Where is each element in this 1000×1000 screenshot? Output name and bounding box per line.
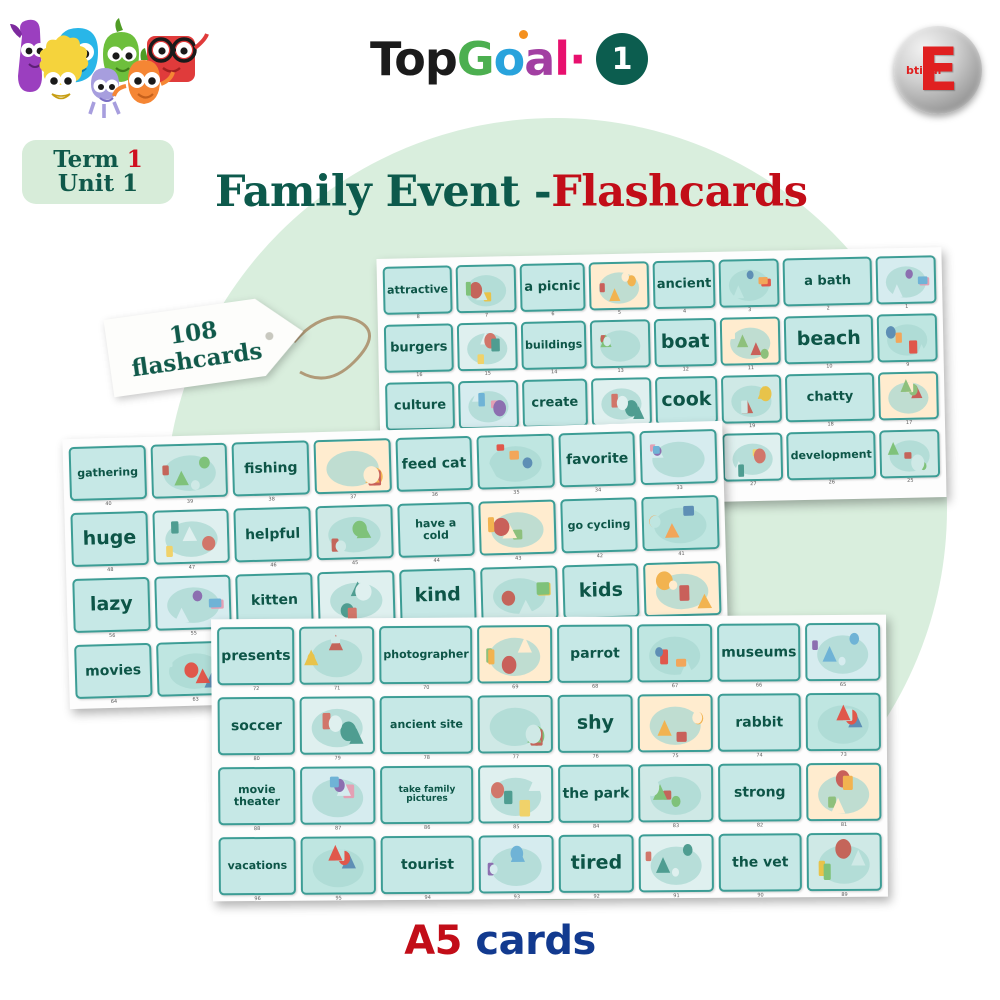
- flashcard-cell: a bath2: [783, 257, 873, 314]
- flashcard-cell: a picnic6: [519, 263, 585, 319]
- flashcard-cell: 79: [300, 696, 375, 763]
- flashcard-word-text: helpful: [236, 525, 309, 544]
- flashcard-word-text: the vet: [721, 854, 800, 871]
- card-size-unit: cards: [475, 918, 595, 964]
- flashcard-word-culture[interactable]: culture: [385, 381, 455, 430]
- flashcard-word-text: beach: [786, 328, 872, 352]
- flashcard-number: 66: [717, 681, 800, 690]
- flashcard-word-photographer[interactable]: photographer: [379, 626, 473, 685]
- flashcard-word-cook[interactable]: cook: [655, 376, 718, 425]
- page-title-topic: Family Event -: [215, 167, 551, 217]
- flashcard-cell: 13: [590, 319, 651, 375]
- flashcard-image-family-photo-shoot[interactable]: [300, 766, 375, 825]
- flashcard-word-text: ancient site: [382, 718, 471, 732]
- flashcard-image-hand-tapping-heart-star[interactable]: [477, 434, 555, 490]
- flashcard-number: 13: [591, 367, 651, 375]
- logo-letter-l: l: [554, 32, 569, 86]
- page-title: Family Event -Flashcards: [215, 167, 807, 217]
- flashcard-cell: 39: [150, 443, 228, 507]
- flashcard-cell: 17: [878, 371, 939, 427]
- flashcard-image-ancient-site-columns[interactable]: [300, 696, 375, 755]
- flashcard-word-the-vet[interactable]: the vet: [718, 833, 802, 892]
- flashcard-word-text: a picnic: [522, 279, 583, 296]
- flashcard-cell: 33: [640, 429, 718, 493]
- flashcard-image-crowd-of-people[interactable]: [642, 495, 720, 551]
- flashcard-image-picnic-park[interactable]: [456, 264, 517, 313]
- flashcard-cell: soccer80: [218, 697, 296, 764]
- flashcard-word-text: chatty: [787, 389, 872, 406]
- flashcard-word-text: huge: [73, 527, 146, 551]
- flashcard-number: 78: [380, 754, 473, 763]
- flashcard-number: 92: [559, 892, 634, 901]
- flashcard-cell: development26: [786, 431, 876, 488]
- flashcard-cell: 69: [478, 625, 553, 692]
- flashcard-word-vacations[interactable]: vacations: [219, 837, 297, 896]
- flashcard-cell: tourist94: [381, 836, 475, 903]
- flashcard-image-family-cycling[interactable]: [478, 500, 556, 556]
- flashcard-word-text: cook: [657, 389, 716, 412]
- flashcard-cell: 37: [313, 438, 391, 502]
- flashcard-number: 95: [301, 894, 376, 903]
- flashcard-number: 14: [522, 369, 587, 377]
- flashcard-word-take-family-pictures[interactable]: take family pictures: [380, 766, 474, 825]
- flashcard-cell: the vet90: [718, 833, 802, 900]
- flashcard-word-museums[interactable]: museums: [717, 623, 801, 682]
- flashcard-number: 15: [458, 370, 518, 378]
- flashcard-cell: tired92: [559, 834, 634, 901]
- flashcard-cell: 35: [477, 434, 555, 498]
- flashcard-image-craft-cube[interactable]: [458, 380, 519, 429]
- term-label: Term: [53, 146, 119, 173]
- flashcard-number: 70: [380, 684, 473, 693]
- flashcard-word-text: feed cat: [397, 455, 470, 474]
- flashcard-word-feed-cat[interactable]: feed cat: [395, 436, 473, 492]
- flashcard-word-text: take family pictures: [382, 784, 472, 805]
- flashcard-word-text: the park: [560, 785, 631, 802]
- flashcard-cell: attractive8: [383, 265, 453, 321]
- flashcard-number: 69: [478, 683, 553, 692]
- flashcard-cell: chatty18: [785, 373, 875, 430]
- flashcard-number: 1: [877, 303, 937, 311]
- flashcard-word-soccer[interactable]: soccer: [218, 697, 296, 756]
- flashcard-number: 89: [807, 891, 882, 900]
- flashcard-cell: helpful46: [234, 506, 312, 570]
- flashcard-image-white-rabbit[interactable]: [638, 694, 713, 753]
- flashcard-cell: 25: [879, 429, 940, 485]
- flashcard-cell: huge48: [70, 511, 148, 575]
- flashcard-image-ancient-ruins[interactable]: [588, 261, 649, 310]
- flashcard-number: 86: [381, 824, 474, 833]
- flashcard-cell: the park84: [558, 764, 633, 831]
- flashcard-image-airport-travellers[interactable]: [877, 313, 938, 362]
- flashcard-image-gift-boxes[interactable]: [806, 693, 881, 752]
- flashcard-number: 80: [218, 755, 295, 764]
- flashcard-word-text: have a cold: [399, 516, 472, 543]
- flashcard-word-gathering[interactable]: gathering: [69, 445, 147, 501]
- flashcard-word-tired[interactable]: tired: [559, 834, 634, 893]
- flashcard-image-photographer-with-camera[interactable]: [299, 626, 374, 685]
- flashcard-cell: 81: [806, 763, 881, 830]
- flashcard-word-attractive[interactable]: attractive: [383, 265, 453, 314]
- flashcard-word-text: a bath: [785, 273, 870, 290]
- flashcard-word-text: kind: [401, 584, 474, 608]
- card-size-label: A5 cards: [0, 918, 1000, 964]
- flashcard-cell: burgers16: [384, 323, 454, 379]
- flashcard-word-have-a-cold[interactable]: have a cold: [397, 502, 475, 558]
- flashcard-word-burgers[interactable]: burgers: [384, 323, 454, 372]
- flashcard-number: 93: [479, 893, 554, 902]
- flashcard-image-wooden-boat[interactable]: [590, 319, 651, 368]
- flashcard-cell: 7: [456, 264, 517, 320]
- flashcard-number: 9: [878, 361, 938, 369]
- flashcard-word-go-cycling[interactable]: go cycling: [560, 497, 638, 553]
- flashcard-cell: strong82: [718, 763, 802, 830]
- flashcard-word-parrot[interactable]: parrot: [557, 624, 632, 683]
- flashcard-word-text: favorite: [561, 450, 634, 469]
- flashcard-number: 85: [479, 823, 554, 832]
- flashcard-word-ancient-site[interactable]: ancient site: [380, 696, 474, 755]
- flashcard-cell: 67: [637, 624, 712, 691]
- flashcard-number: 16: [385, 371, 454, 379]
- flashcard-cell: presents72: [217, 627, 295, 694]
- flashcard-word-text: movie theater: [220, 783, 293, 809]
- flashcard-number: 6: [520, 311, 585, 319]
- flashcard-cell: 15: [457, 322, 518, 378]
- flashcard-word-text: buildings: [523, 338, 584, 353]
- flashcard-cell: 77: [478, 695, 553, 762]
- flashcard-number: 71: [300, 684, 375, 693]
- flashcard-number: 27: [723, 480, 783, 488]
- flashcard-word-text: lazy: [75, 593, 148, 617]
- flashcard-number: 8: [384, 313, 453, 321]
- flashcard-word-movies[interactable]: movies: [74, 643, 152, 699]
- flashcard-word-create[interactable]: create: [522, 379, 588, 428]
- flashcard-cell: 95: [301, 836, 376, 903]
- flashcard-image-museum-visitors[interactable]: [637, 624, 712, 683]
- flashcard-cell: 73: [806, 693, 881, 760]
- flashcard-word-helpful[interactable]: helpful: [234, 506, 312, 562]
- flashcard-image-tropical-beach[interactable]: [720, 317, 781, 366]
- term-number: 1: [127, 146, 143, 173]
- flashcard-cell: buildings14: [521, 321, 587, 377]
- flashcard-word-text: boat: [656, 331, 715, 354]
- flashcard-image-girl-in-green-dress[interactable]: [478, 695, 553, 754]
- flashcard-number: 75: [638, 752, 713, 761]
- flashcard-image-cat-in-bathtub[interactable]: [719, 259, 780, 308]
- flashcard-cell: shy76: [558, 694, 633, 761]
- flashcard-cell: 93: [479, 835, 554, 902]
- flashcard-cell: 27: [722, 432, 783, 488]
- flashcard-image-rainbow-funfair[interactable]: [640, 429, 718, 485]
- flashcard-image-family-events-cover[interactable]: [876, 255, 937, 304]
- flashcard-word-text: presents: [219, 647, 292, 664]
- flashcard-cell: 11: [720, 317, 781, 373]
- flashcard-cell: museums66: [717, 623, 801, 690]
- flashcard-image-girl-feeding-cat[interactable]: [313, 438, 391, 494]
- flashcard-number: 73: [806, 751, 881, 760]
- flashcard-word-text: tourist: [383, 856, 473, 873]
- page-title-type: Flashcards: [551, 167, 807, 217]
- flashcard-number: 68: [558, 682, 633, 691]
- flashcard-cell: 19: [721, 374, 782, 430]
- flashcard-image-city-architecture-pair[interactable]: [722, 432, 783, 481]
- flashcard-image-vets-with-animals[interactable]: [639, 834, 714, 893]
- flashcard-image-boy-sneezing[interactable]: [315, 504, 393, 560]
- flashcard-cell: favorite34: [558, 431, 636, 495]
- flashcard-image-happy-kids[interactable]: [480, 566, 558, 622]
- flashcard-number: 87: [301, 824, 376, 833]
- flashcard-word-text: burgers: [386, 340, 451, 357]
- flashcard-word-movie-theater[interactable]: movie theater: [218, 767, 296, 826]
- flashcard-cell: parrot68: [557, 624, 632, 691]
- flashcard-word-beach[interactable]: beach: [784, 315, 874, 365]
- badge-wordmark: btikar: [906, 64, 943, 77]
- flashcard-cell: 83: [638, 764, 713, 831]
- flashcard-cell: go cycling42: [560, 497, 638, 561]
- flashcard-word-shy[interactable]: shy: [558, 694, 633, 753]
- flashcard-number: 81: [807, 821, 882, 830]
- flashcard-sheet-bottom[interactable]: presents72 71photographer70 69parrot68 6…: [211, 615, 888, 902]
- flashcard-cell: have a cold44: [397, 502, 475, 566]
- flashcard-word-text: strong: [720, 784, 799, 801]
- flashcard-cell: 41: [642, 495, 720, 559]
- flashcard-number: 4: [653, 308, 716, 316]
- logo-level-badge: 1: [596, 33, 648, 85]
- flashcard-cell: 9: [877, 313, 938, 369]
- term-unit-chip: Term 1 Unit 1: [22, 140, 174, 204]
- flashcard-word-chatty[interactable]: chatty: [785, 373, 875, 423]
- flashcard-cell: 47: [152, 509, 230, 573]
- flashcard-word-kind[interactable]: kind: [399, 568, 477, 624]
- flashcard-word-text: gathering: [71, 465, 144, 481]
- flashcard-word-text: create: [524, 395, 585, 412]
- flashcard-word-development[interactable]: development: [786, 431, 876, 481]
- flashcard-number: 91: [639, 892, 714, 901]
- flashcard-number: 96: [219, 895, 296, 904]
- flashcard-number: 83: [639, 822, 714, 831]
- flashcard-image-park-bench-trees[interactable]: [479, 765, 554, 824]
- flashcard-cell: 65: [805, 623, 880, 690]
- flashcard-word-ancient[interactable]: ancient: [652, 260, 715, 309]
- flashcard-image-cinema-tickets[interactable]: [805, 623, 880, 682]
- flashcard-number: 72: [217, 685, 294, 694]
- flashcard-word-text: museums: [719, 644, 798, 661]
- flashcard-cell: 71: [299, 626, 374, 693]
- flashcard-cell: 5: [588, 261, 649, 317]
- flashcard-image-parrot[interactable]: [478, 625, 553, 684]
- flashcard-cell: 3: [719, 259, 780, 315]
- flashcard-word-a-picnic[interactable]: a picnic: [519, 263, 585, 312]
- flashcard-word-text: shy: [560, 712, 631, 734]
- flashcard-cell: 45: [315, 504, 393, 568]
- flashcard-image-heritage-village[interactable]: [879, 429, 940, 478]
- flashcard-word-text: kitten: [238, 591, 311, 610]
- flashcard-cell: ancient4: [652, 260, 716, 316]
- flashcard-cell: ancient site78: [380, 696, 474, 763]
- flashcard-number: 79: [300, 754, 375, 763]
- flashcard-cell: feed cat36: [395, 436, 473, 500]
- flashcard-cell: rabbit74: [717, 693, 801, 760]
- flashcard-cell: boat12: [653, 318, 717, 374]
- flashcard-image-father-son-wood[interactable]: [152, 509, 230, 565]
- flashcard-image-colorful-buildings[interactable]: [457, 322, 518, 371]
- flashcard-word-text: development: [789, 448, 874, 463]
- flashcard-image-traveller-with-luggage[interactable]: [301, 836, 376, 895]
- flashcard-image-boy-lifting-weights[interactable]: [638, 764, 713, 823]
- flashcard-cell: vacations96: [219, 837, 297, 904]
- flashcard-word-a-bath[interactable]: a bath: [783, 257, 873, 307]
- flashcard-word-text: culture: [387, 398, 452, 415]
- flashcard-cell: photographer70: [379, 626, 473, 693]
- flashcard-cell: 87: [300, 766, 375, 833]
- flashcard-word-text: photographer: [381, 648, 470, 662]
- flashcard-word-text: go cycling: [563, 518, 636, 534]
- flashcard-number: 7: [457, 312, 517, 320]
- unit-line: Unit 1: [58, 172, 138, 196]
- flashcard-cell: movies64: [74, 643, 152, 707]
- topgoal-logo: Top G o a l · 1: [370, 28, 648, 90]
- flashcard-number: 76: [558, 752, 633, 761]
- flashcard-cell: beach10: [784, 315, 874, 372]
- flashcard-word-favorite[interactable]: favorite: [558, 431, 636, 487]
- logo-letter-g: G: [457, 32, 494, 86]
- flashcard-word-buildings[interactable]: buildings: [521, 321, 587, 370]
- flashcard-number: 11: [721, 364, 781, 372]
- flashcard-image-cinema-seats[interactable]: [807, 833, 882, 892]
- flashcard-count-tag-wrap: 108 flashcards: [108, 288, 408, 408]
- flashcard-cell: 91: [639, 834, 714, 901]
- term-line: Term 1: [53, 148, 143, 172]
- flashcard-word-the-park[interactable]: the park: [558, 764, 633, 823]
- flashcard-number: 19: [722, 422, 782, 430]
- flashcard-word-text: rabbit: [720, 714, 799, 731]
- flashcard-word-text: kids: [564, 579, 637, 603]
- flashcard-word-tourist[interactable]: tourist: [381, 836, 475, 895]
- flashcard-number: 5: [589, 309, 649, 317]
- flashcard-number: 77: [478, 753, 553, 762]
- flashcard-word-lazy[interactable]: lazy: [72, 577, 150, 633]
- logo-dot: ·: [569, 32, 585, 86]
- flashcard-image-mother-child-cooking[interactable]: [591, 377, 652, 426]
- flashcard-image-two-people-chatting[interactable]: [721, 374, 782, 423]
- flashcard-number: 84: [559, 822, 634, 831]
- flashcard-number: 88: [218, 825, 295, 834]
- flashcard-image-boys-playing-soccer[interactable]: [806, 763, 881, 822]
- flashcard-word-text: soccer: [220, 717, 293, 734]
- flashcard-word-huge[interactable]: huge: [70, 511, 148, 567]
- flashcard-image-hillside-town[interactable]: [643, 561, 721, 617]
- flashcard-cell: 75: [638, 694, 713, 761]
- flashcard-cell: take family pictures86: [380, 766, 474, 833]
- flashcard-image-fishing-boat-father-son[interactable]: [150, 443, 228, 499]
- flashcard-number: 65: [806, 681, 881, 690]
- flashcard-word-text: tired: [561, 852, 632, 874]
- flashcard-word-text: ancient: [655, 276, 714, 293]
- flashcard-word-fishing[interactable]: fishing: [232, 440, 310, 496]
- flashcard-image-tired-man-at-desk[interactable]: [479, 835, 554, 894]
- flashcard-cell: movie theater88: [218, 767, 296, 834]
- flashcard-number: 90: [719, 891, 802, 900]
- flashcard-number: 67: [638, 682, 713, 691]
- flashcard-word-text: fishing: [234, 459, 307, 478]
- flashcard-number: 74: [718, 751, 801, 760]
- flashcard-word-text: attractive: [385, 283, 450, 298]
- flashcard-word-strong[interactable]: strong: [718, 763, 802, 822]
- flashcard-word-kids[interactable]: kids: [562, 563, 640, 619]
- flashcard-word-presents[interactable]: presents: [217, 627, 295, 686]
- flashcard-number: 82: [718, 821, 801, 830]
- mascot-characters-illustration: [4, 10, 254, 130]
- flashcard-word-text: parrot: [559, 645, 630, 662]
- logo-letter-a: a: [524, 32, 554, 86]
- flashcard-cell: lazy56: [72, 577, 150, 641]
- flashcard-number: 12: [654, 366, 717, 374]
- flashcard-number: 17: [879, 419, 939, 427]
- flashcard-number: 94: [381, 894, 474, 903]
- card-size-value: A5: [404, 918, 462, 964]
- publisher-badge: E btikar: [894, 26, 982, 114]
- flashcard-cell: 1: [876, 255, 937, 311]
- flashcard-number: 3: [720, 307, 780, 315]
- flashcard-word-text: movies: [77, 662, 150, 681]
- flashcard-cell: fishing38: [232, 440, 310, 504]
- flashcard-number: 25: [880, 477, 940, 485]
- flashcard-grid: presents72 71photographer70 69parrot68 6…: [217, 623, 882, 904]
- flashcard-word-text: vacations: [221, 859, 294, 873]
- flashcard-cell: 43: [478, 500, 556, 564]
- flashcard-cell: gathering40: [69, 445, 147, 509]
- logo-letter-o: o: [494, 32, 525, 86]
- flashcard-word-rabbit[interactable]: rabbit: [717, 693, 801, 752]
- flashcard-cell: 89: [807, 833, 882, 900]
- logo-text-top: Top: [370, 32, 457, 86]
- flashcard-cell: 85: [479, 765, 554, 832]
- flashcard-word-boat[interactable]: boat: [653, 318, 716, 367]
- flashcard-image-three-burgers[interactable]: [878, 371, 939, 420]
